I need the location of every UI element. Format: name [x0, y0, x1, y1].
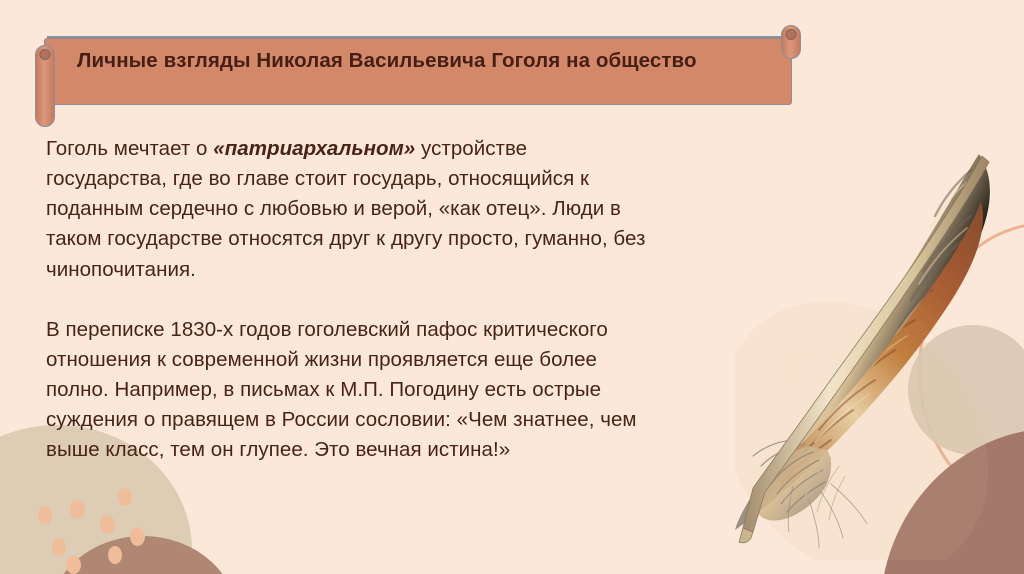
decor-dot [38, 506, 52, 524]
slide-title: Личные взгляды Николая Васильевича Гогол… [77, 46, 775, 75]
decor-dot [100, 515, 115, 534]
decor-dot [52, 538, 66, 556]
banner-right-swirl-icon [786, 29, 797, 40]
decor-dot [130, 527, 145, 546]
banner-left-swirl-icon [40, 49, 51, 60]
paragraph-one-lead: Гоголь мечтает о [46, 137, 213, 160]
quill-feather-illustration [735, 140, 1024, 560]
slide-body-content: Гоголь мечтает о «патриархальном» устрой… [46, 134, 646, 465]
banner-left-curl-icon [35, 45, 55, 127]
decor-dot [118, 488, 132, 506]
decor-dot [66, 556, 81, 574]
brown-blob-left-decor [48, 536, 238, 574]
presentation-slide: Личные взгляды Николая Васильевича Гогол… [0, 0, 1024, 574]
paragraph-two: В переписке 1830-х годов гоголевский паф… [46, 315, 646, 466]
decor-dot [108, 546, 122, 564]
banner-right-curl-icon [781, 25, 801, 59]
title-banner: Личные взгляды Николая Васильевича Гогол… [33, 33, 803, 105]
decor-dot [70, 500, 85, 519]
paragraph-one: Гоголь мечтает о «патриархальном» устрой… [46, 134, 646, 285]
paragraph-one-emphasis: «патриархальном» [213, 137, 415, 160]
